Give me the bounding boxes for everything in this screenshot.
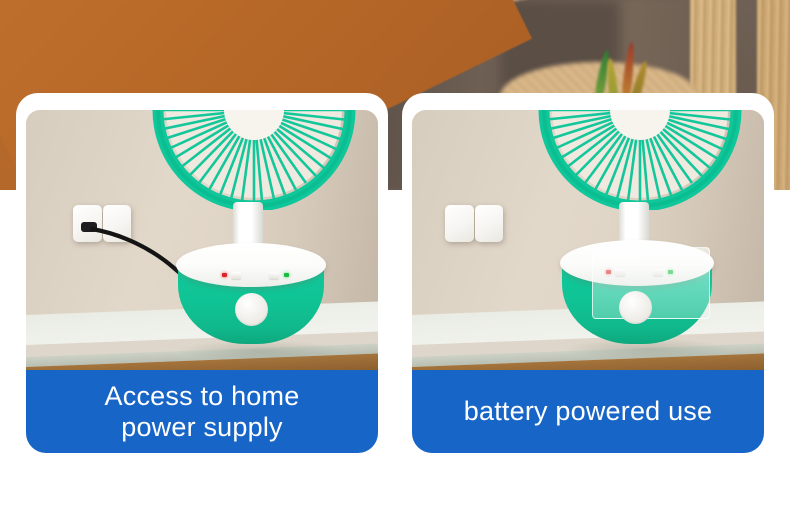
caption-banner-left: Access to home power supply xyxy=(26,370,378,453)
photo-right xyxy=(412,110,764,372)
power-led-red xyxy=(222,273,227,277)
power-plug xyxy=(81,222,97,232)
fan-power-button[interactable] xyxy=(619,291,652,324)
socket-outlet-left xyxy=(445,205,474,242)
fan-power-button[interactable] xyxy=(235,293,268,326)
socket-outlet-right xyxy=(475,205,504,242)
wall-socket xyxy=(445,205,503,242)
product-feature-image: Access to home power supply xyxy=(0,0,790,506)
fan-grille-icon xyxy=(530,110,750,210)
mode-switch-left[interactable] xyxy=(231,272,241,279)
caption-line-1: battery powered use xyxy=(456,396,720,426)
caption-banner-right: battery powered use xyxy=(412,370,764,453)
fan-base-top xyxy=(176,243,326,287)
photo-left xyxy=(26,110,378,372)
caption-line-1: Access to home xyxy=(97,381,308,411)
mode-switch-right[interactable] xyxy=(269,272,279,279)
caption-line-2: power supply xyxy=(97,412,308,442)
caption-text-right: battery powered use xyxy=(456,396,720,426)
caption-text-left: Access to home power supply xyxy=(97,381,308,441)
fan-grille-icon xyxy=(144,110,364,210)
charge-led-green xyxy=(284,273,289,277)
socket-outlet-right xyxy=(103,205,132,242)
